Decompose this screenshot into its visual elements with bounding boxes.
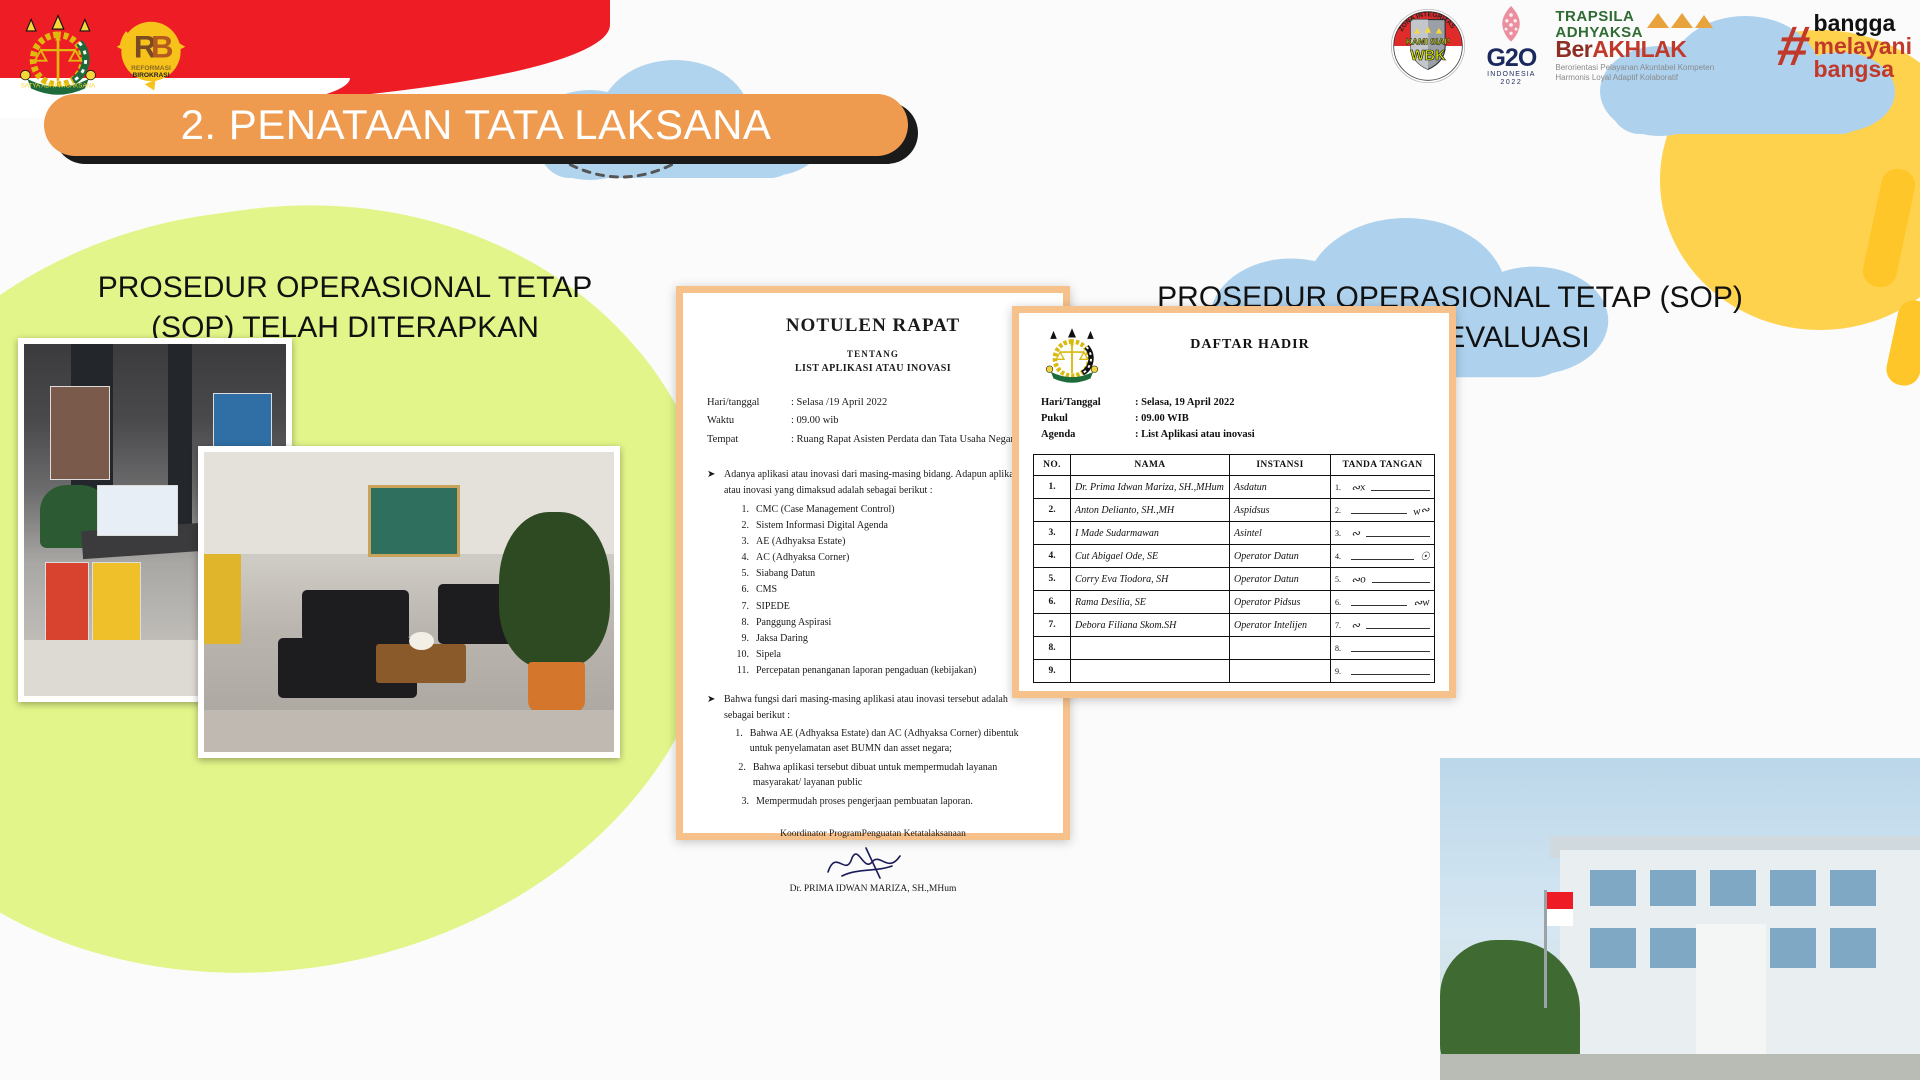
row-2-instansi: Asintel — [1234, 528, 1262, 539]
row-0-nama: Dr. Prima Idwan Mariza, SH.,MHum — [1075, 482, 1224, 493]
column-header-instansi: INSTANSI — [1230, 455, 1331, 476]
notulen-bullet-2: ➤ Bahwa fungsi dari masing-masing aplika… — [707, 692, 1039, 724]
hadir-meta-value-2: : List Aplikasi atau inovasi — [1135, 427, 1435, 443]
app-item-9: Sipela — [756, 647, 781, 663]
row-6-instansi: Operator Intelijen — [1234, 620, 1307, 631]
column-header-no: NO. — [1034, 455, 1071, 476]
left-section-heading: PROSEDUR OPERASIONAL TETAP (SOP) TELAH D… — [60, 268, 630, 347]
hadir-meta-key-1: Pukul — [1041, 411, 1135, 427]
list-item: 7.SIPEDE — [733, 599, 1039, 615]
app-item-7: Panggung Aspirasi — [756, 615, 831, 631]
hash-mark-icon: # — [1774, 24, 1813, 69]
row-0-signature-icon: ∾x — [1350, 480, 1366, 495]
table-row: 3. I Made Sudarmawan Asintel 3.∾ — [1034, 522, 1435, 545]
rb-line2: BIROKRASI — [132, 72, 169, 79]
notulen-sign-role: Koordinator ProgramPenguatan Ketatalaksa… — [707, 827, 1039, 841]
berakhlak-tagline-1: Berorientasi Pelayanan Akuntabel Kompete… — [1555, 63, 1770, 73]
g20-year: 2022 — [1500, 79, 1522, 87]
row-3-signature-icon: ☉ — [1419, 549, 1431, 563]
notulen-meta-key-1: Waktu — [707, 412, 791, 430]
kejaksaan-emblem-icon: SATYA ADHI WICAKSANA — [10, 6, 106, 102]
notulen-bullet-1-text: Adanya aplikasi atau inovasi dari masing… — [724, 467, 1039, 499]
notulen-bullet-1: ➤ Adanya aplikasi atau inovasi dari masi… — [707, 467, 1039, 499]
row-6-signature-icon: ∾ — [1350, 618, 1361, 632]
hadir-meta-key-2: Agenda — [1041, 427, 1135, 443]
office-building-photo — [1440, 758, 1920, 1080]
berakhlak-prefix: Ber — [1555, 36, 1592, 62]
function-item-2: Mempermudah proses pengerjaan pembuatan … — [756, 794, 973, 810]
list-item: 5.Siabang Datun — [733, 566, 1039, 582]
wbk-mid-text: KAMI SIAP — [1406, 36, 1451, 46]
notulen-meta-value-0: : Selasa /19 April 2022 — [791, 394, 1039, 412]
app-item-3: AC (Adhyaksa Corner) — [756, 550, 849, 566]
table-row: 6. Rama Desilia, SE Operator Pidsus 6.∾w — [1034, 591, 1435, 614]
row-5-nama: Rama Desilia, SE — [1075, 597, 1146, 608]
berakhlak-wordmark: BerAKHLAK — [1555, 38, 1770, 61]
app-item-1: Sistem Informasi Digital Agenda — [756, 518, 888, 534]
hadir-meta-key-0: Hari/Tanggal — [1041, 395, 1135, 411]
row-7-ttd-index: 8. — [1335, 644, 1345, 653]
row-5-signature-icon: ∾w — [1413, 595, 1431, 610]
table-row: 4. Cut Abigael Ode, SE Operator Datun 4.… — [1034, 545, 1435, 568]
app-item-8: Jaksa Daring — [756, 631, 808, 647]
notulen-application-list: 1.CMC (Case Management Control) 2.Sistem… — [733, 502, 1039, 680]
list-item: 4.AC (Adhyaksa Corner) — [733, 550, 1039, 566]
daftar-hadir-document: DAFTAR HADIR Hari/Tanggal: Selasa, 19 Ap… — [1012, 306, 1456, 698]
berakhlak-logo: TRAPSILA ADHYAKSA BerAKHLAK Berorientasi… — [1555, 9, 1770, 83]
daftar-hadir-title: DAFTAR HADIR — [1105, 323, 1435, 353]
arrow-bullet-icon: ➤ — [707, 467, 717, 499]
list-item: 11.Percepatan penanganan laporan pengadu… — [733, 663, 1039, 679]
bangga-melayani-bangsa-logo: # bangga melayani bangsa — [1778, 12, 1912, 81]
app-item-5: CMS — [756, 582, 777, 598]
notulen-meta-value-2: : Ruang Rapat Asisten Perdata dan Tata U… — [791, 431, 1039, 449]
row-4-ttd-index: 5. — [1335, 575, 1345, 584]
office-lounge-photo-2 — [198, 446, 620, 758]
list-item: 9.Jaksa Daring — [733, 631, 1039, 647]
row-1-instansi: Aspidsus — [1234, 505, 1270, 516]
list-item: 10.Sipela — [733, 647, 1039, 663]
notulen-meta-key-2: Tempat — [707, 431, 791, 449]
chevron-arrow-icons — [1647, 13, 1713, 28]
row-5-instansi: Operator Pidsus — [1234, 597, 1300, 608]
table-row: 5. Corry Eva Tiodora, SH Operator Datun … — [1034, 568, 1435, 591]
hadir-meta-value-0: : Selasa, 19 April 2022 — [1135, 395, 1435, 411]
handwritten-signature-icon — [818, 842, 928, 882]
top-right-logo-strip: KAMI SIAP WBK ZONA INTEGRITAS G2O INDONE… — [1389, 4, 1912, 88]
notulen-meta-value-1: : 09.00 wib — [791, 412, 1039, 430]
row-4-nama: Corry Eva Tiodora, SH — [1075, 574, 1168, 585]
list-item: 8.Panggung Aspirasi — [733, 615, 1039, 631]
trapsila-line1: TRAPSILA — [1555, 9, 1643, 24]
row-6-no: 7. — [1034, 614, 1071, 637]
row-4-instansi: Operator Datun — [1234, 574, 1299, 585]
wbk-zona-integritas-badge: KAMI SIAP WBK ZONA INTEGRITAS — [1389, 7, 1467, 85]
list-item: 6.CMS — [733, 582, 1039, 598]
row-3-instansi: Operator Datun — [1234, 551, 1299, 562]
column-header-nama: NAMA — [1071, 455, 1230, 476]
row-5-ttd-index: 6. — [1335, 598, 1345, 607]
rb-line1: REFORMASI — [131, 65, 171, 72]
row-2-ttd-index: 3. — [1335, 529, 1345, 538]
row-1-ttd-index: 2. — [1335, 506, 1345, 515]
table-row: 9. 9. — [1034, 660, 1435, 683]
function-item-0: Bahwa AE (Adhyaksa Estate) dan AC (Adhya… — [750, 726, 1039, 757]
list-item: 3.AE (Adhyaksa Estate) — [733, 534, 1039, 550]
hadir-meta-value-1: : 09.00 WIB — [1135, 411, 1435, 427]
row-4-no: 5. — [1034, 568, 1071, 591]
row-0-ttd-index: 1. — [1335, 483, 1345, 492]
bangga-line-1: bangga — [1814, 12, 1912, 35]
notulen-bullet-2-text: Bahwa fungsi dari masing-masing aplikasi… — [724, 692, 1039, 724]
notulen-rapat-document: NOTULEN RAPAT TENTANG LIST APLIKASI ATAU… — [676, 286, 1070, 840]
left-heading-line-1: PROSEDUR OPERASIONAL TETAP — [60, 268, 630, 308]
bangga-line-2: melayani — [1814, 35, 1912, 58]
table-row: 8. 8. — [1034, 637, 1435, 660]
row-3-no: 4. — [1034, 545, 1071, 568]
row-6-ttd-index: 7. — [1335, 621, 1345, 630]
daftar-hadir-meta-block: Hari/Tanggal: Selasa, 19 April 2022 Puku… — [1041, 395, 1435, 442]
notulen-meta-block: Hari/tanggal: Selasa /19 April 2022 Wakt… — [707, 394, 1039, 449]
row-0-instansi: Asdatun — [1234, 482, 1267, 493]
app-item-6: SIPEDE — [756, 599, 790, 615]
kejaksaan-emblem-icon-hadir — [1039, 323, 1105, 389]
svg-text:SATYA ADHI WICAKSANA: SATYA ADHI WICAKSANA — [21, 83, 96, 90]
bangga-line-3: bangsa — [1814, 58, 1912, 81]
list-item: 1.Bahwa AE (Adhyaksa Estate) dan AC (Adh… — [733, 726, 1039, 757]
row-6-nama: Debora Filiana Skom.SH — [1075, 620, 1176, 631]
g20-batik-ornament-icon — [1494, 5, 1528, 45]
table-header-row: NO. NAMA INSTANSI TANDA TANGAN — [1034, 455, 1435, 476]
row-3-ttd-index: 4. — [1335, 552, 1345, 561]
slide-title: 2. PENATAAN TATA LAKSANA — [181, 101, 772, 149]
row-1-no: 2. — [1034, 499, 1071, 522]
row-2-no: 3. — [1034, 522, 1071, 545]
reformasi-birokrasi-logo: R B REFORMASI BIROKRASI — [112, 14, 190, 92]
list-item: 3.Mempermudah proses pengerjaan pembuata… — [733, 794, 1039, 810]
list-item: 2.Bahwa aplikasi tersebut dibuat untuk m… — [733, 760, 1039, 791]
app-item-2: AE (Adhyaksa Estate) — [756, 534, 845, 550]
row-2-signature-icon: ∾ — [1350, 526, 1361, 540]
indonesian-flag-icon — [1547, 892, 1573, 926]
wbk-main-text: WBK — [1411, 48, 1447, 64]
app-item-4: Siabang Datun — [756, 566, 815, 582]
list-item: 1.CMC (Case Management Control) — [733, 502, 1039, 518]
table-row: 2. Anton Delianto, SH.,MH Aspidsus 2.w∾ — [1034, 499, 1435, 522]
g20-wordmark: G2O — [1486, 46, 1536, 71]
presentation-slide: SATYA ADHI WICAKSANA R B REFORMASI BIROK… — [0, 0, 1920, 1080]
notulen-function-list: 1.Bahwa AE (Adhyaksa Estate) dan AC (Adh… — [733, 726, 1039, 810]
app-item-10: Percepatan penanganan laporan pengaduan … — [756, 663, 976, 679]
row-3-nama: Cut Abigael Ode, SE — [1075, 551, 1158, 562]
row-0-no: 1. — [1034, 476, 1071, 499]
berakhlak-tagline-2: Harmonis Loyal Adaptif Kolaboratif — [1555, 73, 1770, 83]
row-8-ttd-index: 9. — [1335, 667, 1345, 676]
row-4-signature-icon: ∾o — [1350, 572, 1366, 587]
column-header-tanda-tangan: TANDA TANGAN — [1331, 455, 1435, 476]
function-item-1: Bahwa aplikasi tersebut dibuat untuk mem… — [753, 760, 1039, 791]
row-1-signature-icon: w∾ — [1413, 503, 1431, 518]
table-row: 1. Dr. Prima Idwan Mariza, SH.,MHum Asda… — [1034, 476, 1435, 499]
row-7-no: 8. — [1034, 637, 1071, 660]
table-row: 7. Debora Filiana Skom.SH Operator Intel… — [1034, 614, 1435, 637]
row-1-nama: Anton Delianto, SH.,MH — [1075, 505, 1174, 516]
g20-country: INDONESIA — [1487, 71, 1535, 79]
berakhlak-rest: AKHLAK — [1592, 36, 1686, 62]
list-item: 2.Sistem Informasi Digital Agenda — [733, 518, 1039, 534]
slide-title-pill: 2. PENATAAN TATA LAKSANA — [44, 94, 908, 156]
notulen-signature-scribble — [707, 842, 1039, 882]
notulen-tentang-label: TENTANG — [707, 349, 1039, 359]
notulen-signature-block: Koordinator ProgramPenguatan Ketatalaksa… — [707, 827, 1039, 896]
svg-text:B: B — [151, 30, 174, 65]
notulen-meta-key-0: Hari/tanggal — [707, 394, 791, 412]
notulen-title: NOTULEN RAPAT — [707, 315, 1039, 337]
row-2-nama: I Made Sudarmawan — [1075, 528, 1159, 539]
g20-logo: G2O INDONESIA 2022 — [1475, 5, 1547, 87]
attendance-table: NO. NAMA INSTANSI TANDA TANGAN 1. Dr. Pr… — [1033, 454, 1435, 683]
arrow-bullet-icon-2: ➤ — [707, 692, 717, 724]
row-8-no: 9. — [1034, 660, 1071, 683]
row-5-no: 6. — [1034, 591, 1071, 614]
notulen-subtitle: LIST APLIKASI ATAU INOVASI — [707, 363, 1039, 374]
notulen-sign-name: Dr. PRIMA IDWAN MARIZA, SH.,MHum — [707, 882, 1039, 896]
app-item-0: CMC (Case Management Control) — [756, 502, 895, 518]
